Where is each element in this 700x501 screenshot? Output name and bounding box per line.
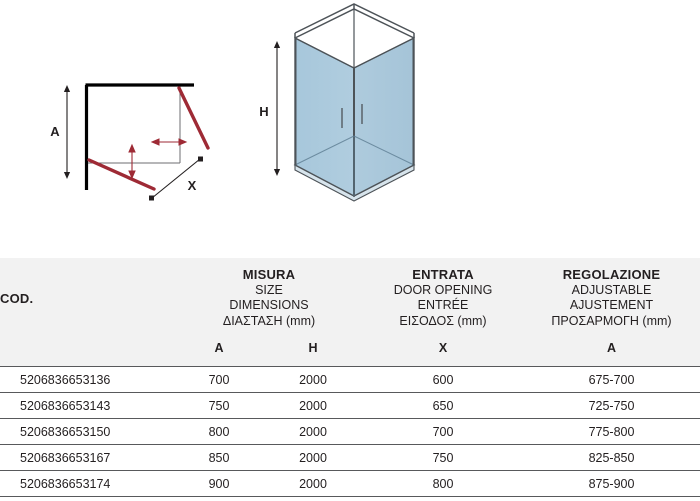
door-panels	[89, 88, 208, 189]
subheader-misura-a: A	[175, 332, 263, 367]
dimension-h-iso: H	[259, 41, 280, 176]
header-entrata: ENTRATA DOOR OPENING ENTRÉE ΕΙΣΟΔΟΣ (mm)	[363, 258, 523, 332]
header-regolazione-line2: ADJUSTABLE	[523, 283, 700, 299]
cell-h: 2000	[263, 419, 363, 445]
technical-drawings-area: A X	[0, 0, 700, 258]
table-header-sub-row: A H X A	[0, 332, 700, 367]
wall-lines	[86, 85, 195, 190]
cell-x: 650	[363, 393, 523, 419]
dimension-x-label: X	[188, 178, 197, 193]
subheader-misura-h: H	[263, 332, 363, 367]
cell-regolazione: 675-700	[523, 367, 700, 393]
table-row: 52068366531508002000700775-800	[0, 419, 700, 445]
dimension-a-plan: A	[50, 85, 70, 179]
header-misura-line4: ΔΙΑΣΤΑΣΗ (mm)	[175, 314, 363, 330]
header-regolazione-line4: ΠΡΟΣΑΡΜΟΓΗ (mm)	[523, 314, 700, 330]
table-body: 52068366531367002000600675-7005206836653…	[0, 367, 700, 497]
table-head: COD. MISURA SIZE DIMENSIONS ΔΙΑΣΤΑΣΗ (mm…	[0, 258, 700, 367]
cell-x: 750	[363, 445, 523, 471]
header-entrata-line1: ENTRATA	[363, 267, 523, 283]
header-misura: MISURA SIZE DIMENSIONS ΔΙΑΣΤΑΣΗ (mm)	[175, 258, 363, 332]
cell-a: 850	[175, 445, 263, 471]
cell-x: 800	[363, 471, 523, 497]
header-regolazione: REGOLAZIONE ADJUSTABLE AJUSTEMENT ΠΡΟΣΑΡ…	[523, 258, 700, 332]
header-regolazione-line3: AJUSTEMENT	[523, 298, 700, 314]
cell-a: 700	[175, 367, 263, 393]
table-row: 52068366531437502000650725-750	[0, 393, 700, 419]
header-regolazione-line1: REGOLAZIONE	[523, 267, 700, 283]
cell-cod: 5206836653174	[0, 471, 175, 497]
opening-gap-arrows	[129, 139, 186, 178]
cell-a: 800	[175, 419, 263, 445]
cell-a: 750	[175, 393, 263, 419]
iso-view-diagram: H	[250, 0, 470, 230]
dimension-a-label: A	[50, 124, 60, 139]
cell-regolazione: 725-750	[523, 393, 700, 419]
cell-regolazione: 875-900	[523, 471, 700, 497]
header-entrata-line3: ENTRÉE	[363, 298, 523, 314]
table-row: 52068366531678502000750825-850	[0, 445, 700, 471]
header-misura-line2: SIZE	[175, 283, 363, 299]
table-row: 52068366531367002000600675-700	[0, 367, 700, 393]
plan-view-diagram: A X	[22, 0, 237, 230]
cell-h: 2000	[263, 393, 363, 419]
cell-cod: 5206836653143	[0, 393, 175, 419]
cell-regolazione: 825-850	[523, 445, 700, 471]
cell-regolazione: 775-800	[523, 419, 700, 445]
subheader-regolazione-a: A	[523, 332, 700, 367]
header-misura-line3: DIMENSIONS	[175, 298, 363, 314]
cell-cod: 5206836653136	[0, 367, 175, 393]
cell-a: 900	[175, 471, 263, 497]
header-misura-line1: MISURA	[175, 267, 363, 283]
cell-cod: 5206836653167	[0, 445, 175, 471]
table-row: 52068366531749002000800875-900	[0, 471, 700, 497]
subheader-cod-blank	[0, 332, 175, 367]
cell-h: 2000	[263, 445, 363, 471]
cell-x: 600	[363, 367, 523, 393]
dimension-h-label: H	[259, 104, 268, 119]
cell-cod: 5206836653150	[0, 419, 175, 445]
header-entrata-line2: DOOR OPENING	[363, 283, 523, 299]
header-entrata-line4: ΕΙΣΟΔΟΣ (mm)	[363, 314, 523, 330]
cell-h: 2000	[263, 471, 363, 497]
door-panel-left	[89, 160, 154, 189]
subheader-entrata-x: X	[363, 332, 523, 367]
cell-x: 700	[363, 419, 523, 445]
cell-h: 2000	[263, 367, 363, 393]
header-cod: COD.	[0, 258, 175, 332]
door-panel-right	[179, 88, 208, 148]
table-header-group-row: COD. MISURA SIZE DIMENSIONS ΔΙΑΣΤΑΣΗ (mm…	[0, 258, 700, 332]
specification-table: COD. MISURA SIZE DIMENSIONS ΔΙΑΣΤΑΣΗ (mm…	[0, 258, 700, 497]
